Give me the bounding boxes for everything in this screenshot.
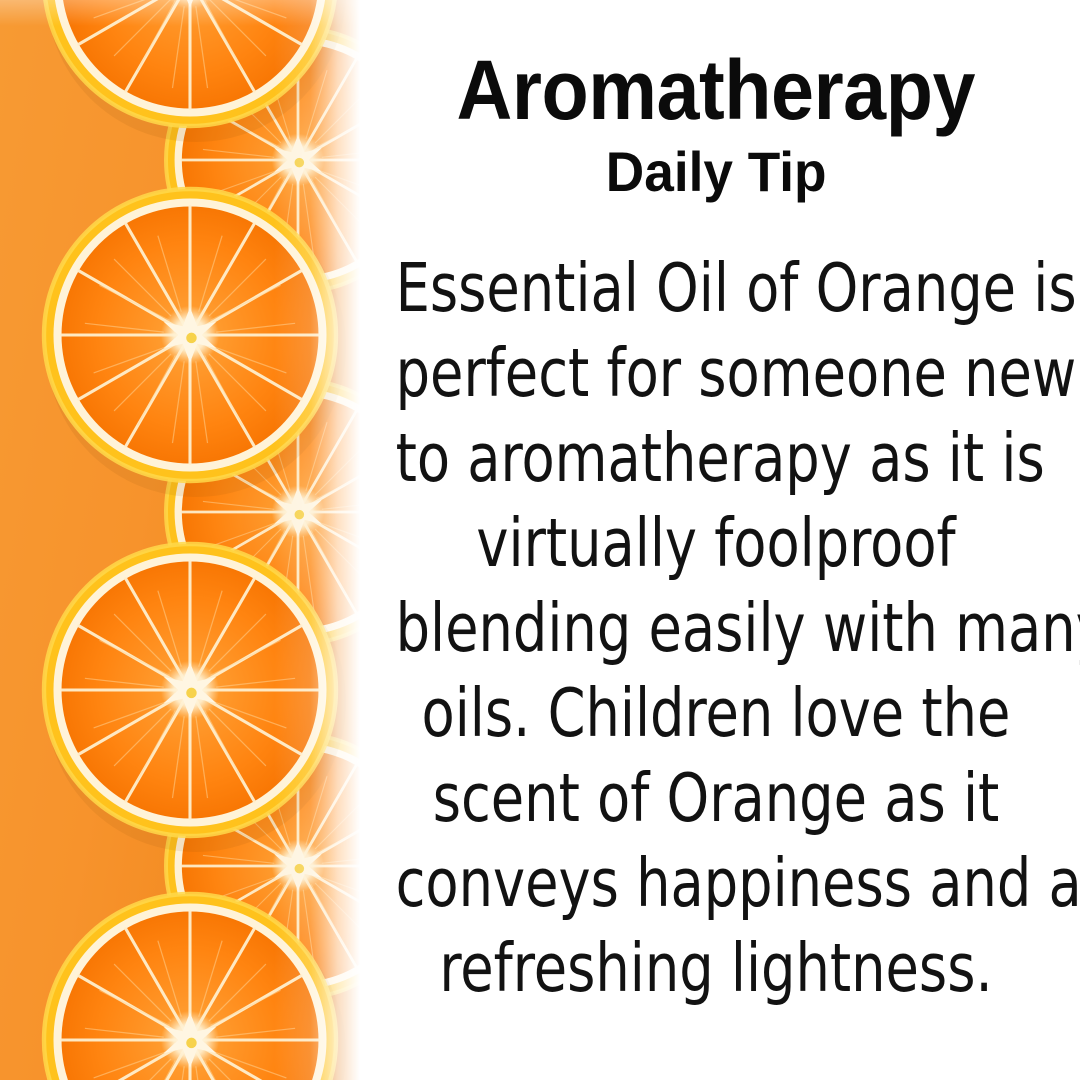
page-subtitle: Daily Tip: [606, 144, 827, 200]
body-copy-line: blending easily with many: [396, 586, 1037, 671]
body-copy-line: scent of Orange as it: [396, 756, 1037, 841]
orange-slices-illustration: [0, 0, 360, 1080]
body-copy-line: to aromatherapy as it is: [396, 416, 1037, 501]
body-copy-line: refreshing lightness.: [396, 926, 1037, 1011]
body-copy-line: Essential Oil of Orange is: [396, 246, 1037, 331]
body-copy: Essential Oil of Orange isperfect for so…: [360, 246, 1072, 1011]
body-copy-line: oils. Children love the: [396, 671, 1037, 756]
text-column: Aromatherapy Daily Tip Essential Oil of …: [352, 0, 1080, 1080]
orange-slice-back-group: [166, 28, 360, 998]
body-copy-line: virtually foolproof: [396, 501, 1037, 586]
page-title: Aromatherapy: [457, 48, 975, 132]
body-copy-line: perfect for someone new: [396, 331, 1037, 416]
orange-slices-panel: [0, 0, 360, 1080]
body-copy-line: conveys happiness and a: [396, 841, 1037, 926]
poster-canvas: Aromatherapy Daily Tip Essential Oil of …: [0, 0, 1080, 1080]
